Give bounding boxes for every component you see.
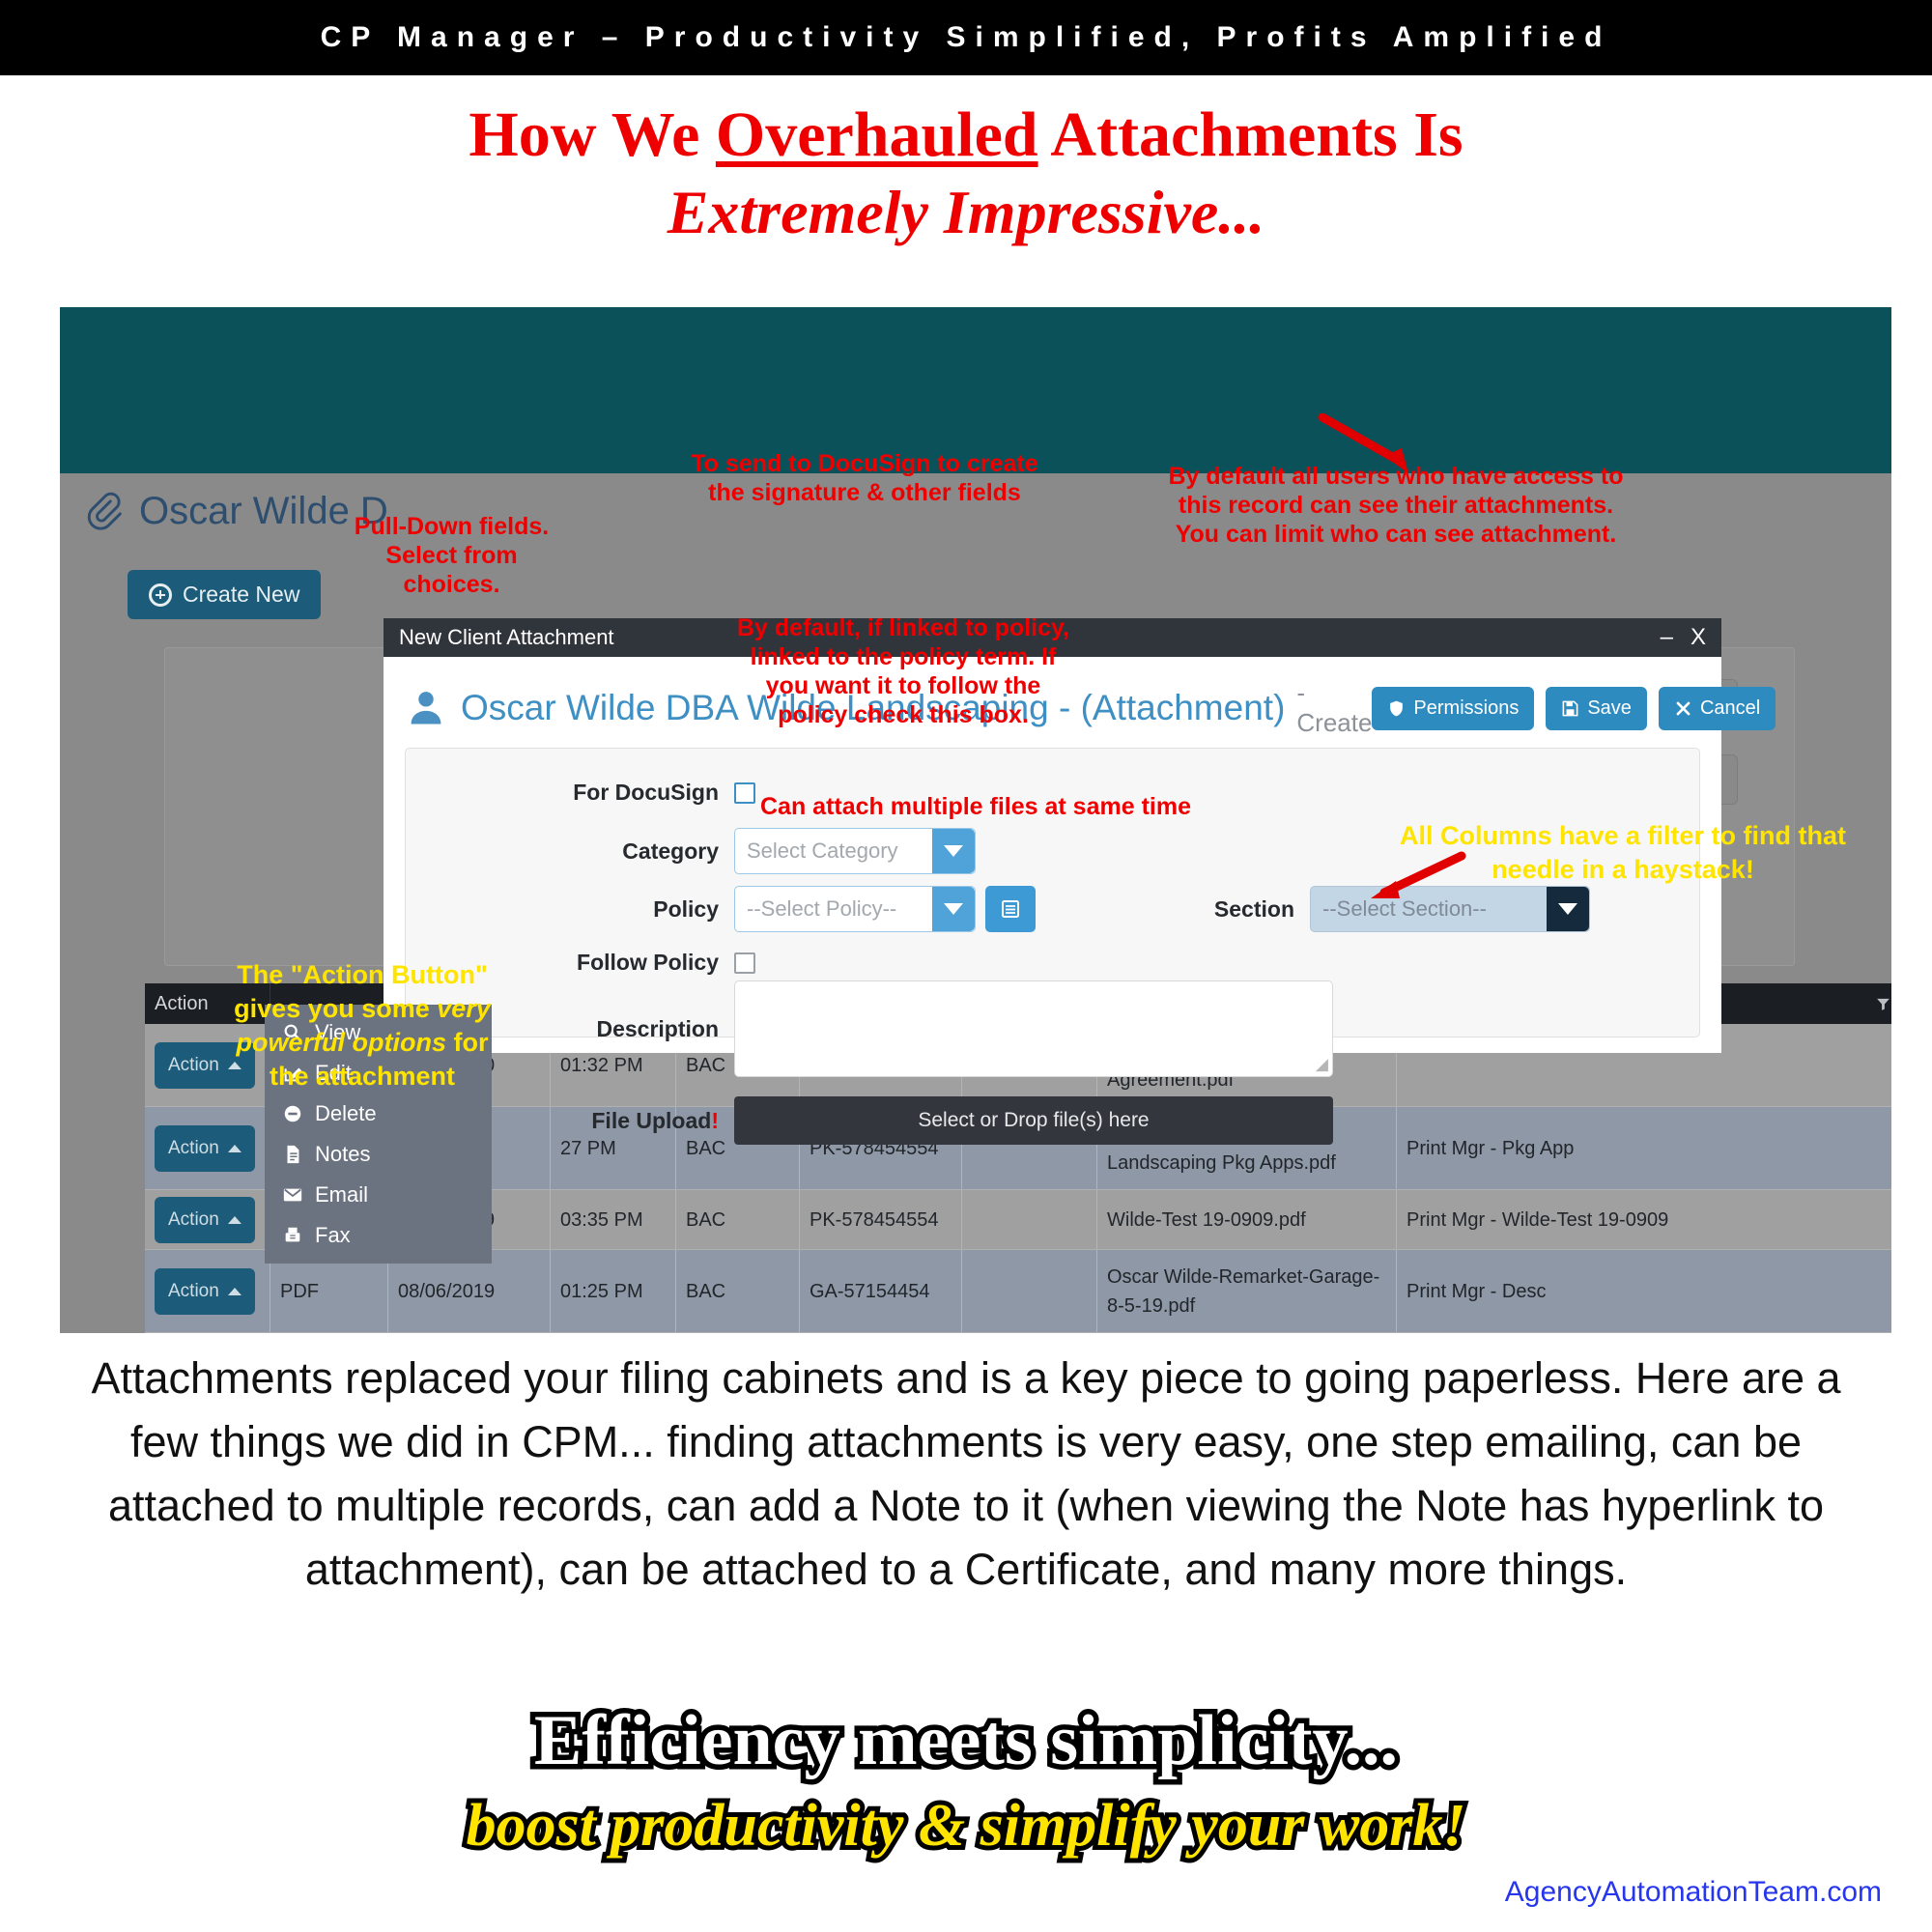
category-label: Category — [497, 838, 719, 865]
fax-icon — [282, 1225, 303, 1246]
annotation-action-line2-a: gives you some — [234, 994, 437, 1023]
attachment-form: For DocuSign Category Select Category Po — [405, 748, 1700, 1037]
banner-text: CP Manager – Productivity Simplified, Pr… — [321, 21, 1612, 54]
create-new-label: Create New — [183, 582, 299, 608]
shield-icon — [1387, 699, 1406, 718]
row-action-button[interactable]: Action — [155, 1268, 255, 1315]
annotation-action-line1: The "Action Button" — [217, 958, 507, 992]
policy-label: Policy — [497, 896, 719, 923]
action-button-cell[interactable]: Action — [145, 1190, 270, 1249]
description-textarea[interactable]: ◢ — [734, 980, 1333, 1077]
follow-policy-label: Follow Policy — [497, 950, 719, 976]
description-label: Description — [497, 1016, 719, 1042]
closing-line-2: boost productivity & simplify your work! — [0, 1792, 1932, 1861]
dialog-title: New Client Attachment — [399, 625, 614, 650]
grid-cell-attachment: Oscar Wilde-Remarket-Garage-8-5-19.pdf — [1097, 1250, 1397, 1332]
body-paragraph: Attachments replaced your filing cabinet… — [58, 1347, 1874, 1602]
context-menu-item-email[interactable]: Email — [265, 1175, 492, 1215]
policy-row: Policy --Select Policy-- — [497, 886, 1036, 932]
row-action-label: Action — [168, 1277, 219, 1306]
context-menu-label: Email — [315, 1182, 368, 1207]
envelope-icon — [282, 1184, 303, 1206]
chevron-down-icon[interactable] — [932, 887, 975, 931]
grid-cell-attachment: Wilde-Test 19-0909.pdf — [1097, 1190, 1397, 1249]
filter-icon[interactable] — [1874, 996, 1891, 1012]
category-select[interactable]: Select Category — [734, 828, 976, 874]
x-icon — [1674, 699, 1692, 718]
permissions-button[interactable]: Permissions — [1372, 687, 1534, 730]
grid-cell-user: BAC — [676, 1190, 800, 1249]
grid-cell-category — [962, 1190, 1097, 1249]
red-arrow-filter-icon — [1348, 850, 1473, 908]
context-menu-item-notes[interactable]: Notes — [265, 1134, 492, 1175]
context-menu-label: Delete — [315, 1101, 377, 1126]
close-icon[interactable]: X — [1690, 624, 1706, 651]
plus-icon — [149, 583, 172, 607]
top-banner: CP Manager – Productivity Simplified, Pr… — [0, 0, 1932, 75]
required-marker: ! — [711, 1108, 719, 1133]
minus-circle-icon — [282, 1103, 303, 1124]
follow-policy-checkbox[interactable] — [734, 952, 755, 974]
row-action-label: Action — [168, 1134, 219, 1163]
headline-underlined-word: Overhauled — [716, 99, 1038, 170]
policy-placeholder: --Select Policy-- — [747, 896, 896, 922]
category-row: Category Select Category — [497, 828, 976, 874]
caret-up-icon — [228, 1145, 241, 1152]
description-row: Description ◢ — [497, 980, 1333, 1077]
minimize-icon[interactable]: – — [1661, 624, 1673, 651]
context-menu-item-fax[interactable]: Fax — [265, 1215, 492, 1256]
cancel-label: Cancel — [1700, 697, 1760, 720]
context-menu-label: Fax — [315, 1223, 351, 1248]
closing-line-1: Efficiency meets simplicity... — [0, 1700, 1932, 1782]
red-arrow-permissions-icon — [1309, 413, 1435, 481]
annotation-action-line3: powerful options for — [217, 1026, 507, 1060]
caret-up-icon — [228, 1216, 241, 1224]
context-menu-label: Notes — [315, 1142, 370, 1167]
website-link[interactable]: AgencyAutomationTeam.com — [1505, 1876, 1882, 1909]
create-new-button[interactable]: Create New — [128, 570, 321, 619]
chevron-down-icon[interactable] — [1547, 887, 1589, 931]
headline-part-a: How We — [469, 99, 715, 170]
headline: How We Overhauled Attachments Is Extreme… — [0, 97, 1932, 251]
grid-cell-time: 01:25 PM — [551, 1250, 676, 1332]
grid-cell-policy: GA-57154454 — [800, 1250, 962, 1332]
section-label: Section — [1179, 896, 1294, 923]
annotation-pulldown: Pull-Down fields.Select fromchoices. — [343, 512, 560, 599]
annotation-multiple-files: Can attach multiple files at same time — [676, 792, 1275, 821]
paperclip-icon — [81, 490, 124, 532]
infographic-page: CP Manager – Productivity Simplified, Pr… — [0, 0, 1932, 1932]
annotation-docusign: To send to DocuSign to createthe signatu… — [676, 449, 1053, 507]
document-icon — [282, 1144, 303, 1165]
policy-list-button[interactable] — [985, 886, 1036, 932]
annotation-follow-policy: By default, if linked to policy,linked t… — [734, 613, 1072, 729]
annotation-action-line2-b: very — [437, 994, 491, 1023]
file-upload-row: File Upload! Select or Drop file(s) here — [497, 1096, 1333, 1145]
save-label: Save — [1587, 697, 1632, 720]
file-drop-zone[interactable]: Select or Drop file(s) here — [734, 1096, 1333, 1145]
annotation-action-line3-a: powerful options — [237, 1028, 446, 1057]
annotation-action-button: The "Action Button" gives you some very … — [217, 958, 507, 1094]
row-action-button[interactable]: Action — [155, 1125, 255, 1172]
file-upload-label: File Upload! — [497, 1108, 719, 1134]
row-action-button[interactable]: Action — [155, 1197, 255, 1243]
grid-cell-user: BAC — [676, 1250, 800, 1332]
grid-column-label: Action — [155, 993, 209, 1015]
grid-cell-description: Print Mgr - Wilde-Test 19-0909 — [1397, 1190, 1891, 1249]
dialog-record-mode: - Create — [1296, 678, 1372, 738]
cancel-button[interactable]: Cancel — [1659, 687, 1776, 730]
grid-cell-description: Print Mgr - Desc — [1397, 1250, 1891, 1332]
annotation-action-line2: gives you some very — [217, 992, 507, 1026]
grid-cell-policy: PK-578454554 — [800, 1190, 962, 1249]
category-placeholder: Select Category — [747, 838, 898, 864]
file-drop-label: Select or Drop file(s) here — [918, 1109, 1149, 1132]
headline-part-b: Attachments Is — [1038, 99, 1463, 170]
follow-policy-row: Follow Policy — [497, 950, 755, 976]
grid-cell-time: 03:35 PM — [551, 1190, 676, 1249]
floppy-disk-icon — [1561, 699, 1579, 718]
headline-line-1: How We Overhauled Attachments Is — [0, 97, 1932, 174]
chevron-down-icon[interactable] — [932, 829, 975, 873]
list-icon — [999, 897, 1022, 921]
person-icon — [405, 687, 447, 729]
row-action-label: Action — [168, 1051, 219, 1080]
headline-line-2: Extremely Impressive... — [0, 174, 1932, 251]
permissions-label: Permissions — [1413, 697, 1519, 720]
row-action-label: Action — [168, 1206, 219, 1235]
annotation-action-line4: the attachment — [217, 1060, 507, 1094]
action-button-cell[interactable]: Action — [145, 1250, 270, 1332]
resize-grip-icon[interactable]: ◢ — [1316, 1055, 1328, 1074]
grid-cell-description: Print Mgr - Pkg App — [1397, 1107, 1891, 1189]
context-menu-item-delete[interactable]: Delete — [265, 1094, 492, 1134]
action-button-cell[interactable]: Action — [145, 1107, 270, 1189]
grid-cell-category — [962, 1250, 1097, 1332]
file-upload-label-text: File Upload — [591, 1108, 711, 1133]
annotation-action-line3-b: for — [446, 1028, 489, 1057]
caret-up-icon — [228, 1288, 241, 1295]
policy-select[interactable]: --Select Policy-- — [734, 886, 976, 932]
save-button[interactable]: Save — [1546, 687, 1647, 730]
